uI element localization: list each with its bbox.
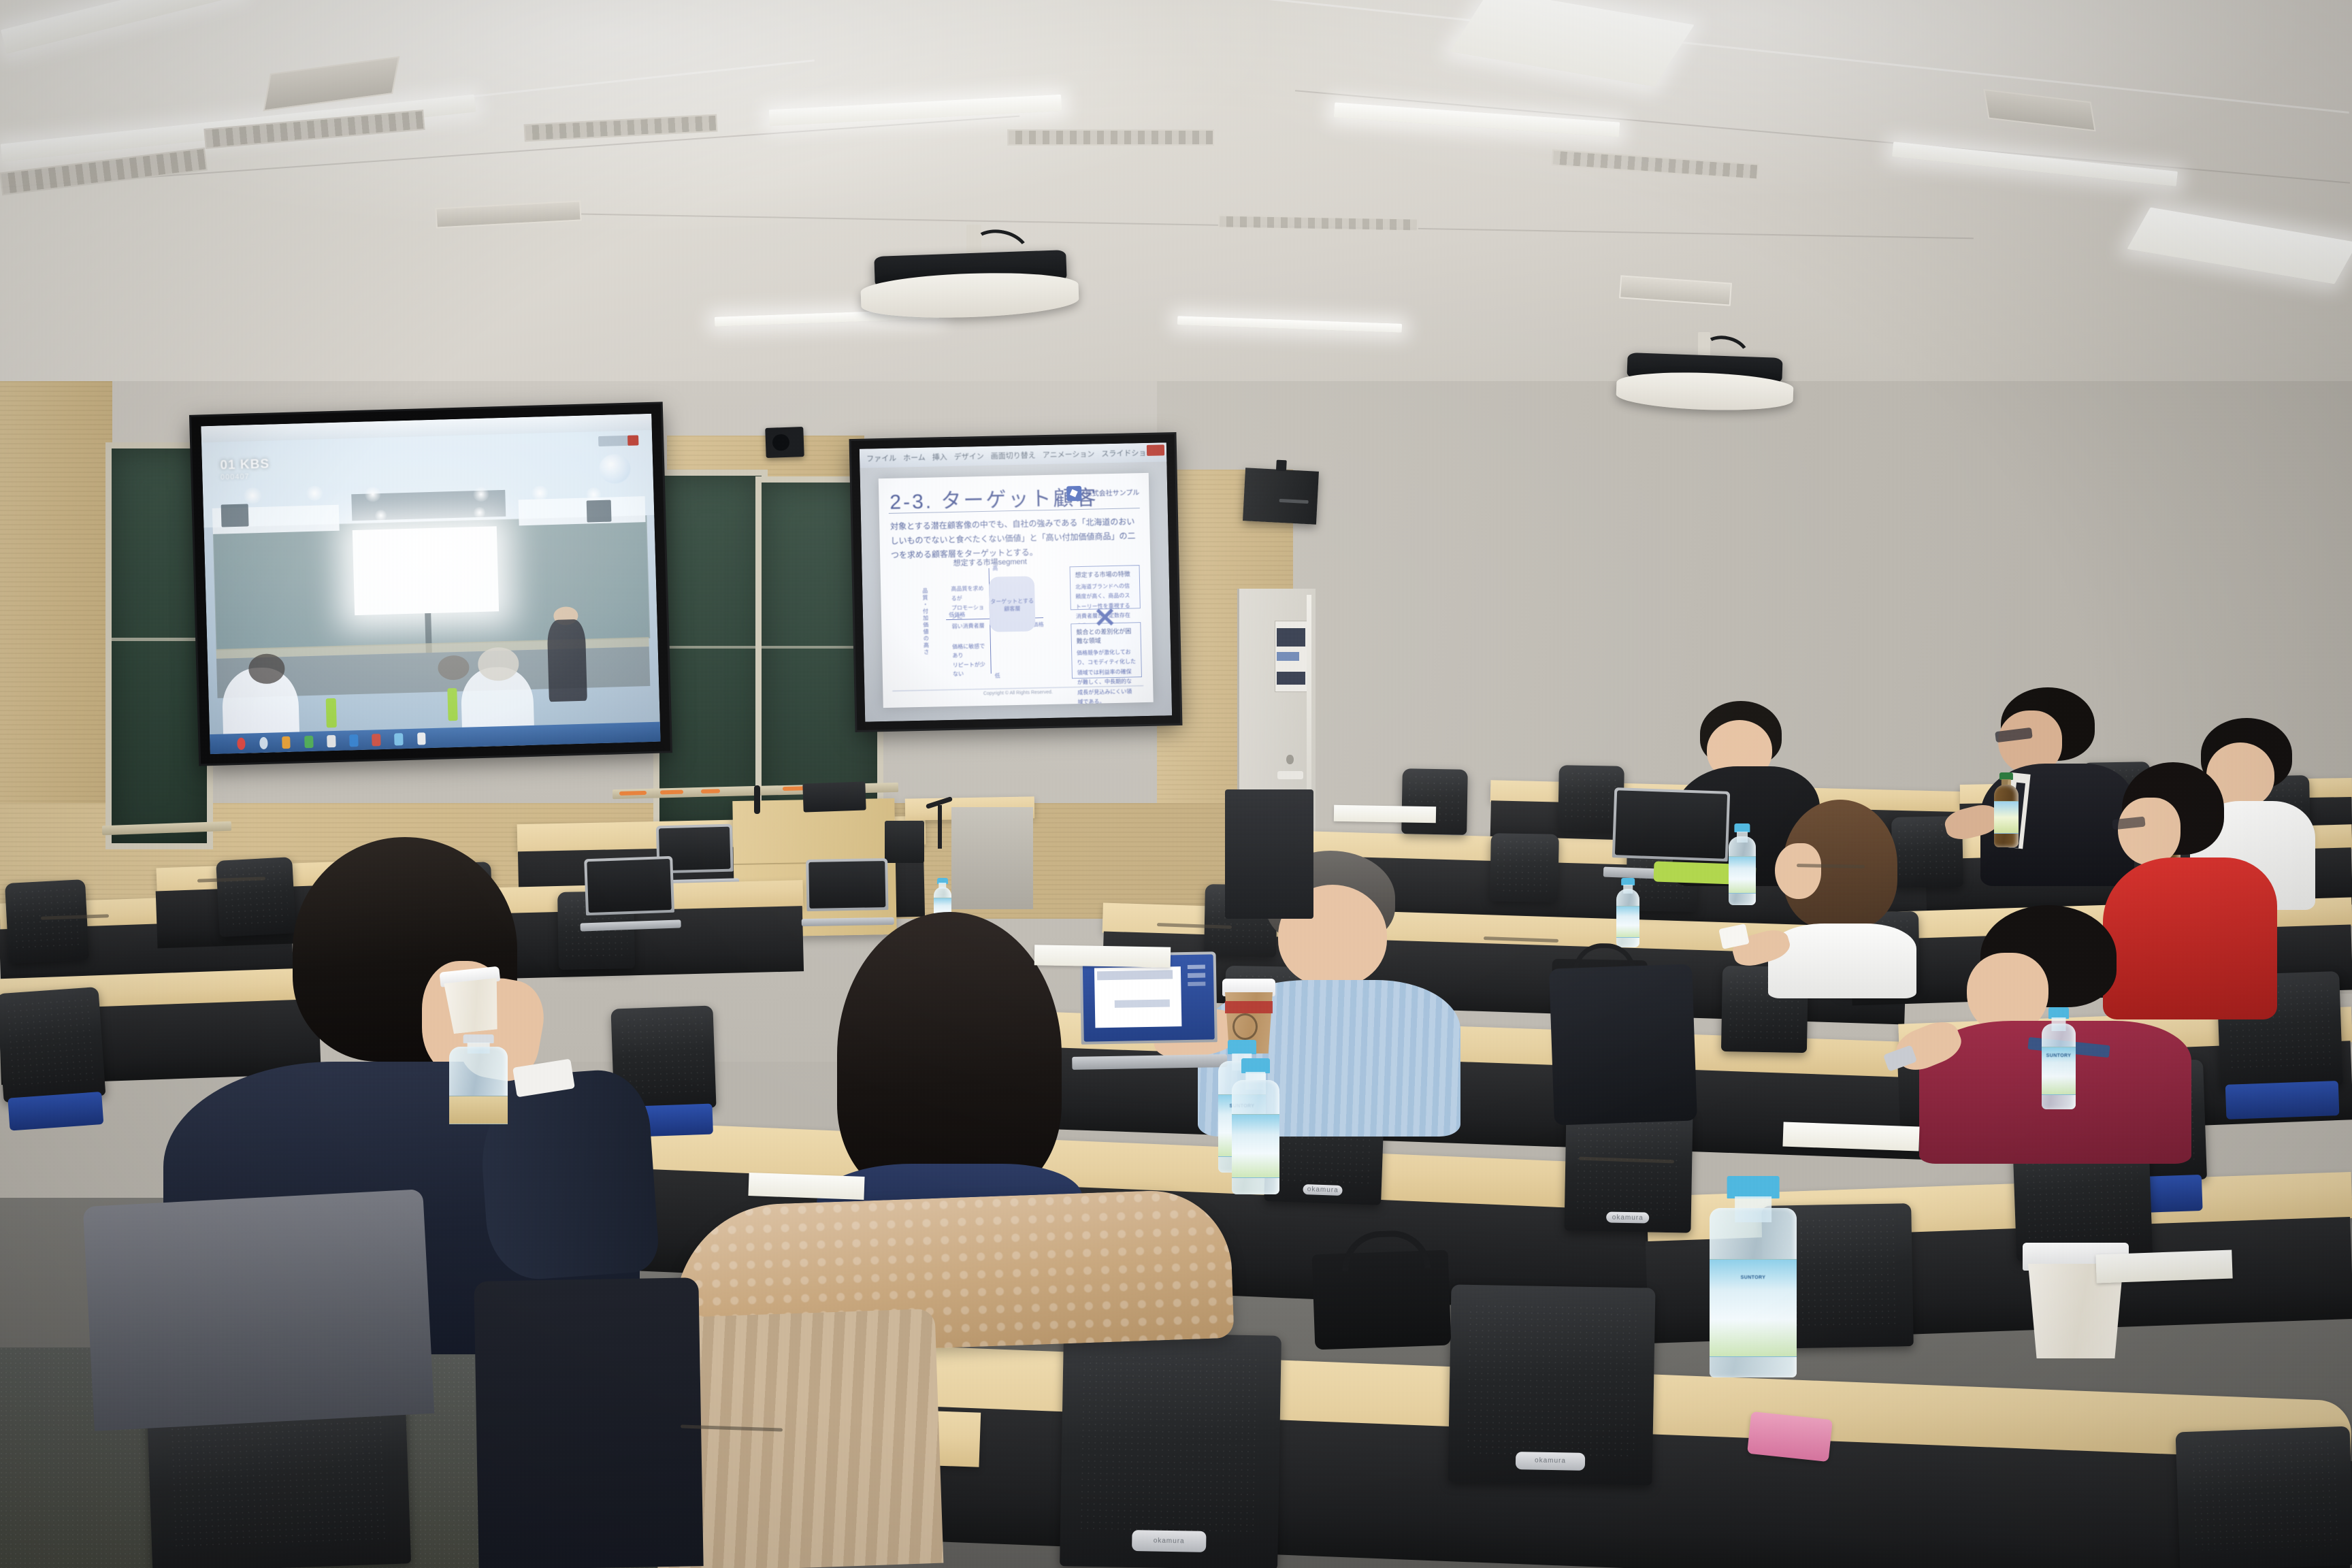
remote-room-projection-screen [353, 526, 499, 615]
menu-item-home[interactable]: ホーム [903, 452, 926, 463]
chair-brand-badge: okamura [1303, 1184, 1343, 1196]
taskbar-icon[interactable] [282, 736, 291, 748]
equipment-rack [1225, 789, 1313, 919]
okamura-chair[interactable]: okamura [1448, 1284, 1655, 1485]
powerpoint-window: ファイル ホーム 挿入 デザイン 画面切り替え アニメーション スライドショー … [860, 442, 1172, 721]
bottle-brand-label: SUNTORY [2042, 1053, 2076, 1058]
left-ceiling-projector [861, 225, 1079, 320]
front-side-cabinet [951, 807, 1033, 909]
target-segment-label: ターゲットとする顧客層 [989, 597, 1035, 612]
suntory-water-bottle[interactable] [449, 1034, 508, 1124]
chair-brand-label: okamura [1154, 1537, 1185, 1546]
okamura-chair-blue[interactable] [2176, 1426, 2352, 1568]
close-icon[interactable] [1147, 444, 1164, 455]
black-laptop[interactable] [806, 858, 889, 926]
quadrant-note-upper-left: 高品質を求めるが プロモーションに 弱い消費者層 [951, 584, 987, 631]
menu-item-insert[interactable]: 挿入 [932, 451, 947, 462]
macbook-laptop[interactable] [1080, 951, 1218, 1069]
okamura-chair[interactable] [1490, 833, 1559, 902]
menu-item-file[interactable]: ファイル [866, 453, 896, 464]
suntory-water-bottle[interactable] [1616, 878, 1639, 947]
right-ceiling-projector [1616, 332, 1793, 414]
taskbar-icon[interactable] [237, 737, 246, 749]
taskbar-icon[interactable] [349, 734, 358, 747]
door-handle[interactable] [1277, 771, 1303, 779]
taskbar-icon[interactable] [327, 735, 336, 747]
coat-on-chair [1549, 964, 1697, 1125]
taskbar-icon[interactable] [304, 736, 313, 748]
okamura-chair[interactable]: okamura [1060, 1332, 1281, 1568]
taskbar-icon[interactable] [395, 733, 404, 745]
axis-label-y-bottom: 低 [995, 672, 1000, 680]
notebook-papers[interactable] [748, 1173, 864, 1200]
lectern-monitor [802, 781, 866, 812]
menu-item-animations[interactable]: アニメーション [1043, 448, 1095, 461]
remote-green-bottle [326, 698, 337, 728]
side-box-upper-heading: 想定する市場の特徴 [1075, 569, 1134, 579]
slide-chart-caption: 想定する市場segment [953, 556, 1027, 568]
left-projection-screen[interactable]: 01 KBS 000407 [191, 404, 670, 764]
okamura-chair[interactable] [1401, 768, 1468, 835]
microphone-stand [938, 805, 942, 849]
green-tea-bottle[interactable] [1994, 772, 2019, 847]
handheld-microphone [754, 785, 760, 814]
notebook-papers[interactable] [2095, 1250, 2232, 1284]
chair-brand-badge: okamura [1132, 1530, 1206, 1552]
taskbar-icon[interactable] [259, 736, 268, 749]
right-projection-screen[interactable]: ファイル ホーム 挿入 デザイン 画面切り替え アニメーション スライドショー … [851, 434, 1181, 730]
woman-white-top [1756, 800, 1926, 997]
feed-call-timer: 000407 [220, 472, 250, 481]
menu-item-transitions[interactable]: 画面切り替え [991, 449, 1036, 461]
door-sign [1275, 621, 1308, 692]
notebook-papers[interactable] [1034, 945, 1171, 967]
feed-close-button[interactable] [627, 436, 638, 446]
menu-item-slideshow[interactable]: スライドショー [1101, 447, 1154, 459]
remote-room-speaker [221, 504, 249, 527]
suit-jacket-lower [474, 1277, 703, 1568]
logo-mark-icon [1066, 486, 1081, 501]
suntory-water-bottle[interactable] [1232, 1058, 1279, 1194]
feed-call-label: 01 KBS [220, 457, 269, 474]
remote-green-bottle [447, 688, 458, 721]
company-logo: 株式会社サンプル [1066, 485, 1139, 501]
suntory-water-bottle[interactable]: SUNTORY [2042, 1007, 2076, 1109]
chair-brand-label: okamura [1535, 1457, 1566, 1465]
ceiling-linear-grille [1007, 129, 1214, 146]
powerpoint-menubar[interactable]: ファイル ホーム 挿入 デザイン 画面切り替え アニメーション スライドショー [860, 442, 1166, 468]
cross-mark-icon: ✕ [1093, 602, 1116, 634]
handbag[interactable] [1312, 1250, 1452, 1350]
chair-brand-label: okamura [1612, 1213, 1644, 1222]
target-segment-blob: ターゲットとする顧客層 [989, 576, 1036, 632]
center-chalkboard [653, 470, 768, 836]
taskbar-icon[interactable] [417, 732, 426, 745]
grey-scarf-on-chair [83, 1189, 435, 1431]
wall-mounted-speaker [1243, 468, 1319, 525]
door-lock-icon[interactable] [1286, 755, 1293, 764]
suntory-water-bottle[interactable] [1729, 823, 1756, 905]
front-monitor [885, 821, 924, 863]
skype-video-feed: 01 KBS 000407 [201, 414, 660, 754]
logo-text: 株式会社サンプル [1085, 487, 1139, 499]
pink-tissue-pack[interactable] [1747, 1411, 1833, 1462]
lecture-hall-photo: 01 KBS 000407 [0, 0, 2352, 1568]
chair-brand-badge: okamura [1516, 1452, 1585, 1471]
bottle-brand-label: SUNTORY [1710, 1275, 1797, 1280]
white-paper-cup[interactable] [442, 966, 502, 1034]
okamura-chair[interactable] [5, 879, 89, 964]
notebook-papers[interactable] [1782, 1122, 1919, 1151]
black-laptop[interactable] [584, 856, 675, 931]
slide-lead-text: 対象とする潜在顧客像の中でも、自社の強みである「北海道のおいしいものでないと食べ… [890, 514, 1139, 563]
remote-room-speaker [586, 500, 611, 523]
chair-brand-badge: okamura [1606, 1212, 1650, 1224]
quadrant-note-lower-left: 価格に敏感であり リピートが少ない [952, 642, 988, 679]
matrix-y-axis-title: 品質・付加価値の高さ [921, 587, 930, 655]
okamura-chair[interactable]: okamura [1564, 1108, 1693, 1232]
side-box-lower-body: 価格競争が激化しており、コモディティ化した領域では利益率の確保が難しく、中長期的… [1077, 647, 1137, 707]
chair-brand-label: okamura [1307, 1186, 1339, 1194]
powerpoint-slide: 2-3. ターゲット顧客 株式会社サンプル 対象とする潜在顧客像の中でも、自社の… [879, 473, 1154, 708]
taskbar-icon[interactable] [372, 734, 380, 746]
remote-presenter-body [546, 619, 587, 702]
menu-item-design[interactable]: デザイン [954, 451, 984, 462]
notebook-papers[interactable] [1334, 805, 1436, 823]
suntory-water-bottle[interactable]: SUNTORY [1710, 1176, 1797, 1377]
okamura-chair-blue[interactable] [0, 987, 105, 1102]
axis-label-y-top: 高 [992, 564, 998, 572]
ceiling-security-camera [765, 427, 804, 458]
